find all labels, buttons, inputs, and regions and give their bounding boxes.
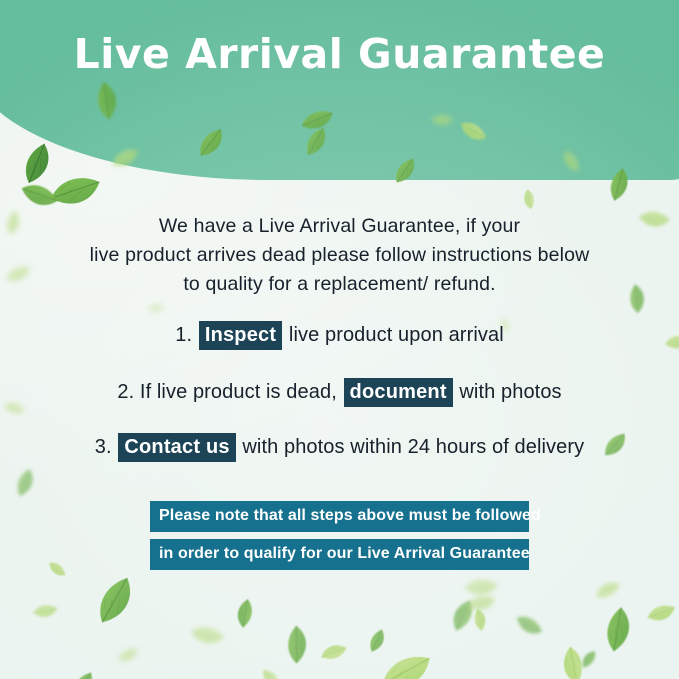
intro-line-2: live product arrives dead please follow … [0, 241, 679, 270]
intro-line-3: to quality for a replacement/ refund. [0, 270, 679, 299]
poster-canvas: Live Arrival Guarantee We have a Live Ar… [0, 0, 679, 679]
step-item-2: 2. If live product is dead, document wit… [0, 381, 679, 404]
step-1-after: live product upon arrival [289, 324, 504, 346]
step-1-highlight: Inspect [199, 321, 282, 350]
step-item-3: 3. Contact us with photos within 24 hour… [0, 436, 679, 459]
step-3-after: with photos within 24 hours of delivery [242, 436, 584, 458]
step-item-1: 1. Inspect live product upon arrival [0, 324, 679, 347]
notice-banner-line-1: Please note that all steps above must be… [150, 501, 529, 532]
intro-paragraph: We have a Live Arrival Guarantee, if you… [0, 212, 679, 299]
step-2-number: 2. [117, 381, 134, 403]
step-2-highlight: document [344, 378, 453, 407]
notice-banners: Please note that all steps above must be… [0, 501, 679, 570]
intro-line-1: We have a Live Arrival Guarantee, if you… [0, 212, 679, 241]
step-3-highlight: Contact us [118, 433, 235, 462]
step-3-number: 3. [95, 436, 112, 458]
notice-banner-line-2: in order to qualify for our Live Arrival… [150, 539, 529, 570]
step-2-after: with photos [459, 381, 561, 403]
step-1-number: 1. [175, 324, 192, 346]
poster-content: We have a Live Arrival Guarantee, if you… [0, 0, 679, 679]
step-2-before: If live product is dead, [140, 381, 337, 403]
